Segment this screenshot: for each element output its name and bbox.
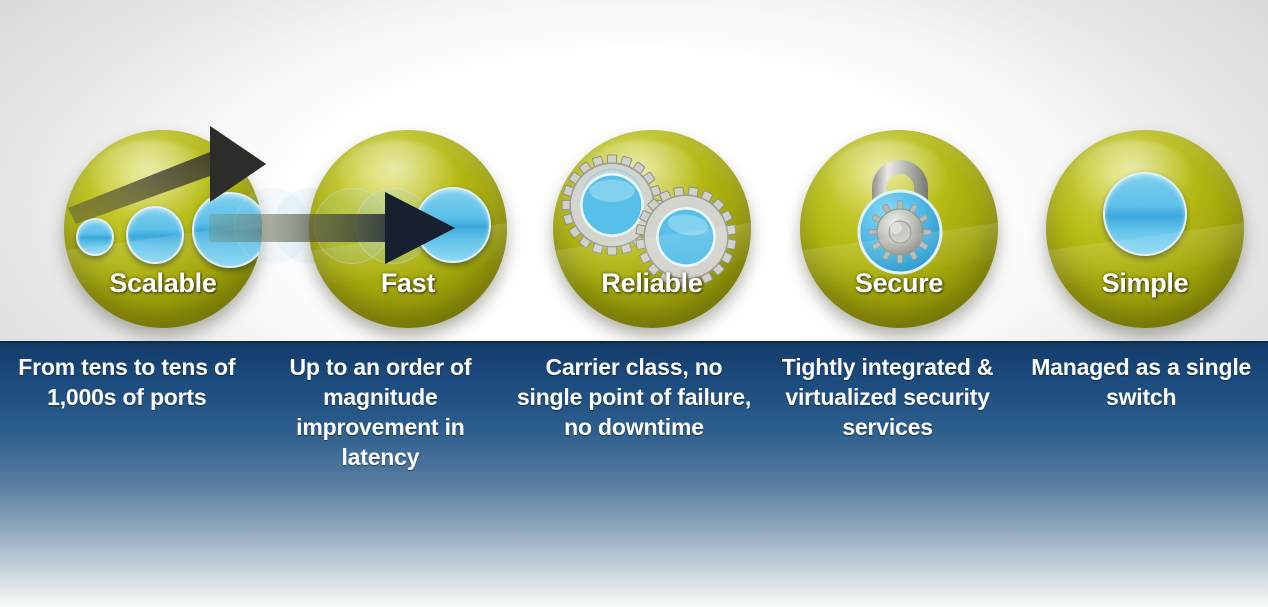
slide-canvas: Scalable Fas [0,0,1268,607]
benefit-node-scalable[interactable]: Scalable [64,130,262,328]
caption-simple: Managed as a single switch [1014,352,1268,472]
caption-reliable: Carrier class, no single point of failur… [507,352,761,472]
benefit-node-fast[interactable]: Fast [309,130,507,328]
gear-right-icon [635,186,737,288]
caption-secure: Tightly integrated & virtualized securit… [761,352,1015,472]
sphere-reliable [553,130,751,328]
padlock-icon [846,144,954,276]
fast-dot-lead [415,187,491,263]
benefit-circles: Scalable Fas [0,0,1268,345]
caption-fast: Up to an order of magnitude improvement … [254,352,508,472]
benefit-node-simple[interactable]: Simple [1046,130,1244,328]
scalable-dot-small [76,218,114,256]
sphere-simple [1046,130,1244,328]
simple-dot [1103,172,1187,256]
benefit-node-reliable[interactable]: Reliable [553,130,751,328]
caption-scalable: From tens to tens of 1,000s of ports [0,352,254,472]
scalable-dot-medium [126,206,184,264]
sphere-secure [800,130,998,328]
benefit-captions: From tens to tens of 1,000s of ports Up … [0,352,1268,472]
benefit-node-secure[interactable]: Secure [800,130,998,328]
sphere-scalable [64,130,262,328]
